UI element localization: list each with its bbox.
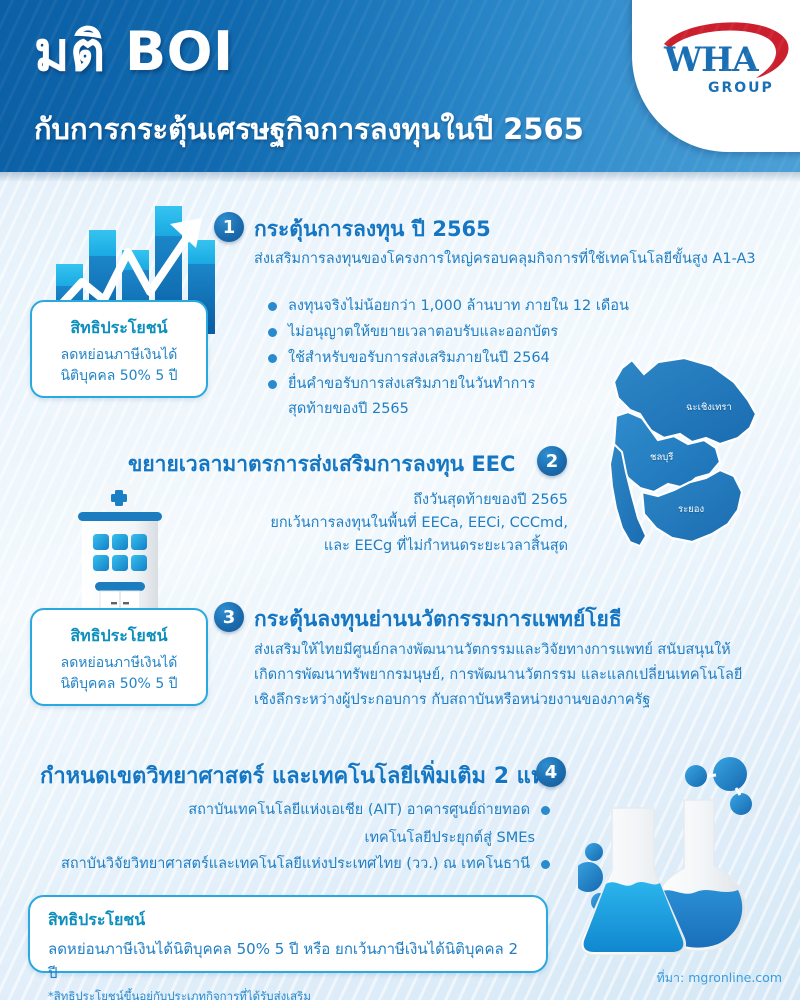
section-number-1: 1 (214, 212, 244, 242)
wha-logo-badge: WHA GROUP (632, 0, 800, 152)
bullet-text: ยื่นคำขอรับการส่งเสริมภายในวันทำการ (288, 374, 535, 396)
section-3-line: เชิงลึกระหว่างผู้ประกอบการ กับสถาบันหรือ… (254, 689, 650, 711)
bullet-text: ไม่อนุญาตให้ขยายเวลาตอบรับและออกบัตร (288, 322, 558, 344)
section-3-line: ส่งเสริมให้ไทยมีศูนย์กลางพัฒนานวัตกรรมแล… (254, 639, 731, 661)
section-4-item: สถาบันวิจัยวิทยาศาสตร์และเทคโนโลยีแห่งปร… (40, 854, 550, 876)
map-label-chachoengsao: ฉะเชิงเทรา (686, 400, 732, 415)
page-title: มติ BOI (34, 22, 234, 81)
benefit-note: *สิทธิประโยชน์ขึ้นอยู่กับประเภทกิจการที่… (48, 988, 528, 1000)
bullet-dot (268, 380, 277, 389)
eec-map: ฉะเชิงเทรา ชลบุรี ระยอง (588, 352, 788, 588)
benefit-main-text: ลดหย่อนภาษีเงินได้นิติบุคคล 50% 5 ปี หรื… (48, 937, 528, 985)
section-3-line: เกิดการพัฒนาทรัพยากรมนุษย์, การพัฒนานวัต… (254, 664, 742, 686)
benefit-line: นิติบุคคล 50% 5 ปี (32, 674, 206, 695)
logo-wordmark: WHA (664, 40, 758, 80)
section-1-bullet: ยื่นคำขอรับการส่งเสริมภายในวันทำการ (268, 374, 535, 396)
benefit-title: สิทธิประโยชน์ (32, 624, 206, 649)
bullet-dot (541, 860, 550, 869)
map-label-chonburi: ชลบุรี (650, 450, 673, 465)
section-number-3: 3 (214, 602, 244, 632)
bullet-dot (268, 328, 277, 337)
bullet-text: ลงทุนจริงไม่น้อยกว่า 1,000 ล้านบาท ภายใน… (288, 296, 629, 318)
molecule-node (713, 757, 747, 791)
section-1-bullet-continuation: สุดท้ายของปี 2565 (288, 398, 409, 420)
item-text: สถาบันวิจัยวิทยาศาสตร์และเทคโนโลยีแห่งปร… (61, 854, 530, 876)
bullet-dot (268, 302, 277, 311)
section-1-subheading: ส่งเสริมการลงทุนของโครงการใหญ่ครอบคลุมกิ… (254, 248, 756, 270)
section-1-heading: กระตุ้นการลงทุน ปี 2565 (254, 213, 491, 246)
section-4-item: สถาบันเทคโนโลยีแห่งเอเชีย (AIT) อาคารศูน… (150, 800, 550, 822)
map-label-rayong: ระยอง (678, 502, 704, 517)
molecule-node (685, 765, 707, 787)
bullet-dot (541, 806, 550, 815)
benefit-box-1: สิทธิประโยชน์ ลดหย่อนภาษีเงินได้ นิติบุค… (30, 300, 208, 398)
molecule-node (578, 862, 603, 892)
benefit-box-4: สิทธิประโยชน์ ลดหย่อนภาษีเงินได้นิติบุคค… (28, 895, 548, 973)
page-subtitle: กับการกระตุ้นเศรษฐกิจการลงทุนในปี 2565 (34, 106, 584, 152)
section-2-line: ถึงวันสุดท้ายของปี 2565 (180, 489, 568, 511)
section-4-heading: กำหนดเขตวิทยาศาสตร์ และเทคโนโลยีเพิ่มเติ… (40, 758, 556, 793)
benefit-line: ลดหย่อนภาษีเงินได้ (32, 653, 206, 674)
section-2-line: ยกเว้นการลงทุนในพื้นที่ EECa, EECi, CCCm… (180, 512, 568, 534)
molecule-node (585, 843, 603, 861)
section-1-bullet: ใช้สำหรับขอรับการส่งเสริมภายในปี 2564 (268, 348, 550, 370)
wha-logo: WHA GROUP (656, 14, 796, 124)
benefit-line: ลดหย่อนภาษีเงินได้ (32, 345, 206, 366)
benefit-line: นิติบุคคล 50% 5 ปี (32, 366, 206, 387)
hospital-icon (62, 482, 182, 622)
bullet-text: ใช้สำหรับขอรับการส่งเสริมภายในปี 2564 (288, 348, 550, 370)
section-2-line: และ EECg ที่ไม่กำหนดระยะเวลาสิ้นสุด (180, 535, 568, 557)
header-banner: มติ BOI กับการกระตุ้นเศรษฐกิจการลงทุนในป… (0, 0, 800, 172)
section-number-2: 2 (537, 446, 567, 476)
benefit-box-3: สิทธิประโยชน์ ลดหย่อนภาษีเงินได้ นิติบุค… (30, 608, 208, 706)
section-number-4: 4 (536, 757, 566, 787)
bullet-dot (268, 354, 277, 363)
source-attribution: ที่มา: mgronline.com (657, 968, 782, 988)
section-3-heading: กระตุ้นลงทุนย่านนวัตกรรมการแพทย์โยธี (254, 603, 622, 636)
laboratory-flasks-icon (578, 752, 800, 962)
infographic-page: มติ BOI กับการกระตุ้นเศรษฐกิจการลงทุนในป… (0, 0, 800, 1000)
header-shadow (0, 172, 800, 182)
logo-tagline: GROUP (708, 80, 774, 96)
section-1-bullet: ลงทุนจริงไม่น้อยกว่า 1,000 ล้านบาท ภายใน… (268, 296, 629, 318)
section-2-heading: ขยายเวลามาตรการส่งเสริมการลงทุน EEC (128, 448, 515, 481)
molecule-node (730, 793, 752, 815)
benefit-title: สิทธิประโยชน์ (32, 316, 206, 341)
section-1-bullet: ไม่อนุญาตให้ขยายเวลาตอบรับและออกบัตร (268, 322, 558, 344)
benefit-title: สิทธิประโยชน์ (48, 908, 528, 933)
section-4-item-continuation: เทคโนโลยีประยุกต์สู่ SMEs (150, 827, 535, 849)
item-text: สถาบันเทคโนโลยีแห่งเอเชีย (AIT) อาคารศูน… (188, 800, 530, 822)
